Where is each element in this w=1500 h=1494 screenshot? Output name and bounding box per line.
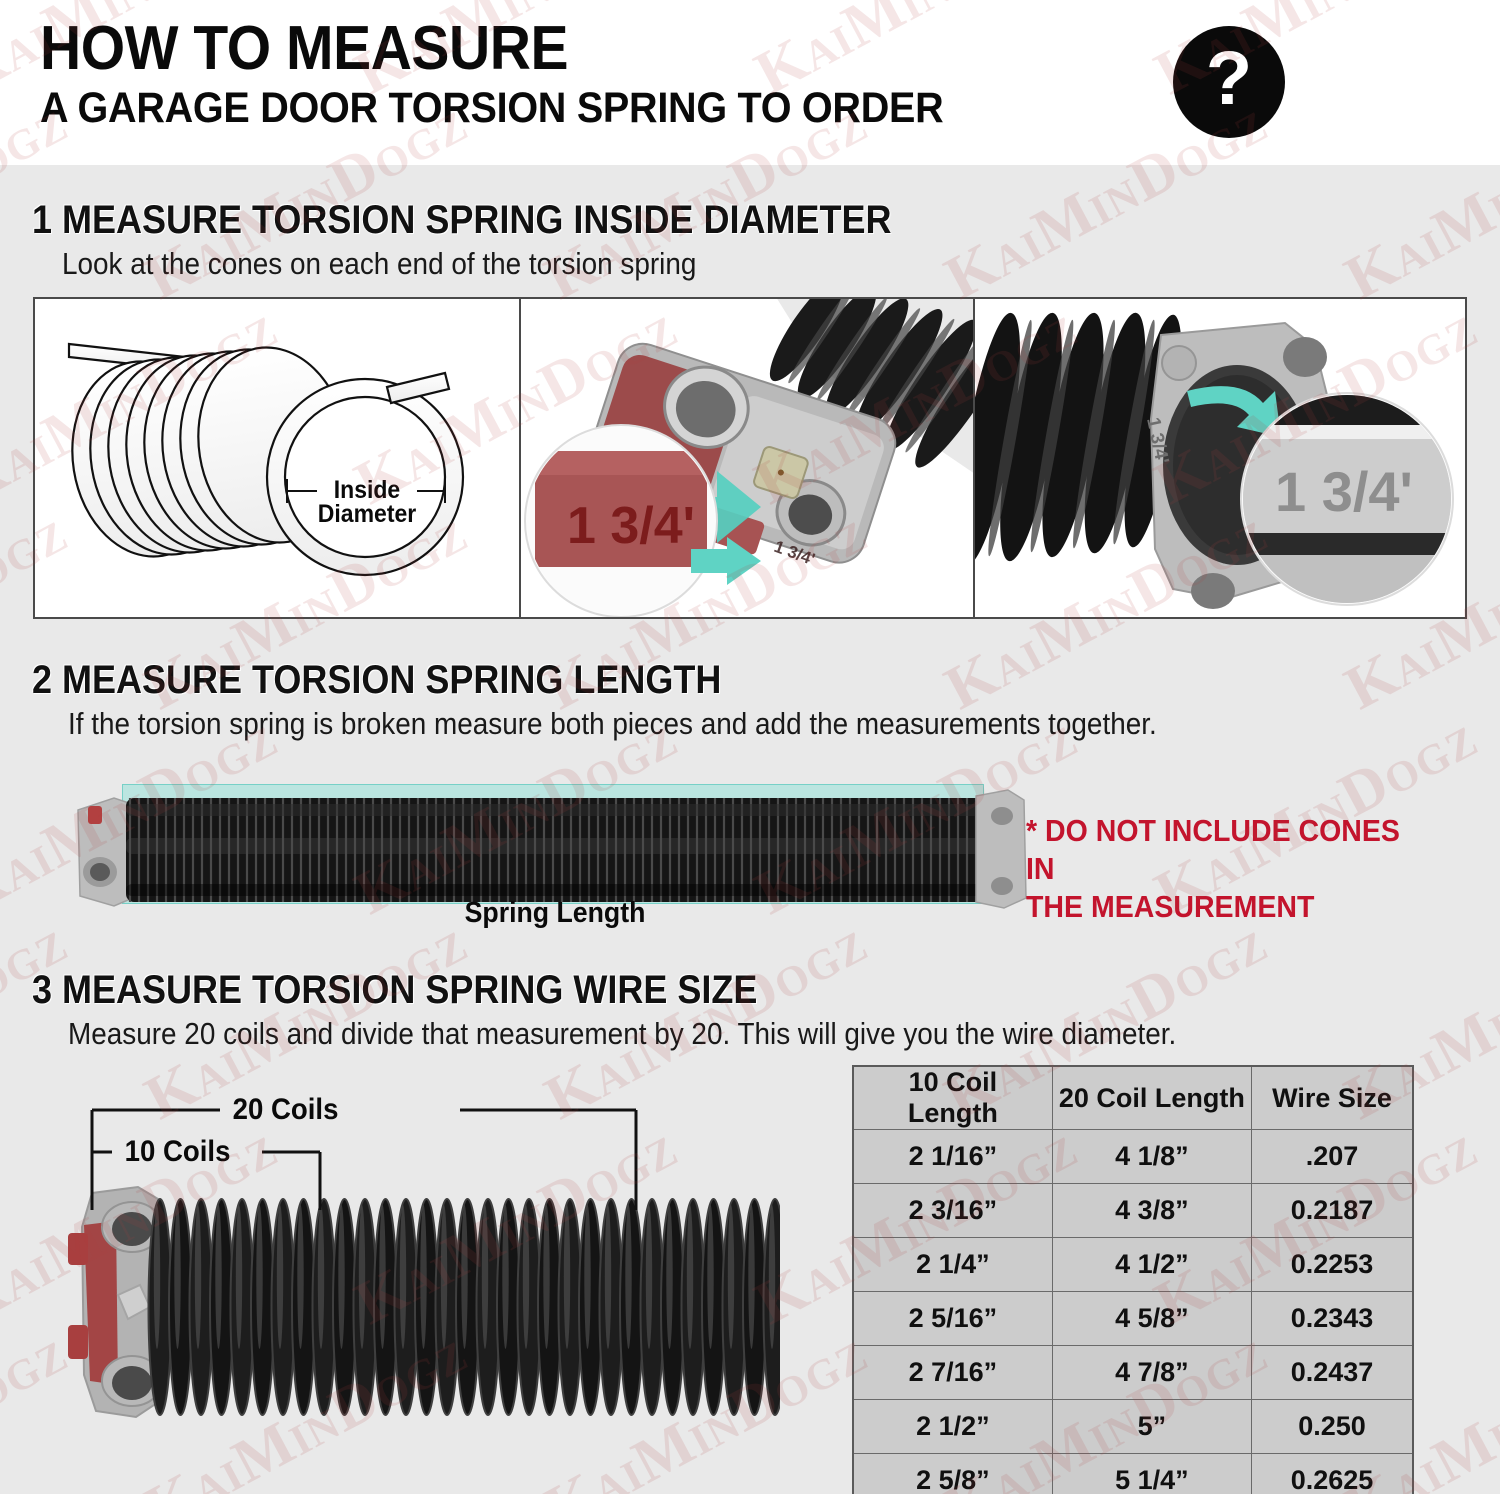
question-mark-icon: ? xyxy=(1206,41,1252,117)
table-cell: 4 7/8” xyxy=(1052,1346,1251,1400)
spring-coil-highlight xyxy=(154,1205,160,1349)
table-cell: 4 1/8” xyxy=(1052,1130,1251,1184)
table-cell: 2 3/16” xyxy=(853,1184,1052,1238)
table-cell: 2 1/2” xyxy=(853,1400,1052,1454)
spring-coil-highlight xyxy=(605,1205,611,1349)
table-cell: 0.2625 xyxy=(1252,1454,1414,1494)
warning-line-1: * DO NOT INCLUDE CONES IN xyxy=(1026,812,1412,888)
spring-coil-highlight xyxy=(420,1205,426,1349)
spring-coil-highlight xyxy=(195,1205,201,1349)
table-row: 2 3/16”4 3/8”0.2187 xyxy=(853,1184,1413,1238)
svg-text:1 3/4': 1 3/4' xyxy=(567,497,695,555)
spring-coil-highlight xyxy=(625,1205,631,1349)
spring-coil-highlight xyxy=(400,1205,406,1349)
table-cell: 0.2253 xyxy=(1252,1238,1414,1292)
spring-coil-highlight xyxy=(236,1205,242,1349)
section-3-subheading: Measure 20 coils and divide that measure… xyxy=(68,1016,1176,1052)
spring-coil-highlight xyxy=(215,1205,221,1349)
cone-exclusion-warning: * DO NOT INCLUDE CONES IN THE MEASUREMEN… xyxy=(1026,812,1412,926)
spring-coil-highlight xyxy=(174,1205,180,1349)
table-cell: 4 3/8” xyxy=(1052,1184,1251,1238)
table-cell: 5” xyxy=(1052,1400,1251,1454)
inside-diameter-diagram-panel: Inside Diameter xyxy=(35,299,521,617)
section-2-heading: 2 MEASURE TORSION SPRING LENGTH xyxy=(32,658,721,702)
inside-diameter-label-line2: Diameter xyxy=(299,501,435,527)
table-cell: 0.2343 xyxy=(1252,1292,1414,1346)
table-cell: 2 1/4” xyxy=(853,1238,1052,1292)
wire-size-table: 10 Coil Length 20 Coil Length Wire Size … xyxy=(852,1065,1414,1494)
table-row: 2 7/16”4 7/8”0.2437 xyxy=(853,1346,1413,1400)
table-cell: 2 1/16” xyxy=(853,1130,1052,1184)
red-cone-photo-panel: 1 3/4' 1 3/4' xyxy=(521,299,975,617)
label-20-coils: 20 Coils xyxy=(233,1093,339,1127)
spring-coil-highlight xyxy=(707,1205,713,1349)
section-1-subheading: Look at the cones on each end of the tor… xyxy=(62,246,696,282)
spring-coil-highlight xyxy=(728,1205,734,1349)
spring-coil-highlight xyxy=(318,1205,324,1349)
warning-line-2: THE MEASUREMENT xyxy=(1026,888,1412,926)
section-1-panel-row: Inside Diameter xyxy=(33,297,1467,619)
gray-cone-photo-panel: 1 3/4' 1 3/4' xyxy=(975,299,1465,617)
spring-coil-highlight xyxy=(523,1205,529,1349)
spring-coil-highlight xyxy=(359,1205,365,1349)
page-subtitle: A GARAGE DOOR TORSION SPRING TO ORDER xyxy=(40,84,1346,132)
spring-coil-highlight xyxy=(543,1205,549,1349)
table-cell: 4 1/2” xyxy=(1052,1238,1251,1292)
spring-coil-highlight xyxy=(687,1205,693,1349)
spring-coil-highlight xyxy=(297,1205,303,1349)
wire-size-spring-photo xyxy=(40,1185,780,1445)
table-body: 2 1/16”4 1/8”.2072 3/16”4 3/8”0.21872 1/… xyxy=(853,1130,1413,1494)
table-row: 2 5/8”5 1/4”0.2625 xyxy=(853,1454,1413,1494)
spring-coil-highlight xyxy=(584,1205,590,1349)
red-cone-photo: 1 3/4' 1 3/4' xyxy=(521,299,975,617)
torsion-spring-closeup xyxy=(40,1185,780,1435)
column-header-10-coil: 10 Coil Length xyxy=(853,1066,1052,1130)
column-header-20-coil: 20 Coil Length xyxy=(1052,1066,1251,1130)
spring-coil-highlight xyxy=(256,1205,262,1349)
spring-coil-highlight xyxy=(482,1205,488,1349)
table-cell: 4 5/8” xyxy=(1052,1292,1251,1346)
full-torsion-spring-photo xyxy=(60,776,1050,916)
svg-text:1 3/4': 1 3/4' xyxy=(1275,460,1413,523)
spring-coil-highlight xyxy=(748,1205,754,1349)
spring-coil-line-drawing xyxy=(35,299,521,617)
table-cell: 2 7/16” xyxy=(853,1346,1052,1400)
table-header-row: 10 Coil Length 20 Coil Length Wire Size xyxy=(853,1066,1413,1130)
table-cell: 2 5/16” xyxy=(853,1292,1052,1346)
spring-length-label: Spring Length xyxy=(100,897,1011,930)
spring-coil-highlight xyxy=(646,1205,652,1349)
table-cell: 0.2187 xyxy=(1252,1184,1414,1238)
spring-length-illustration: Spring Length xyxy=(60,762,1050,932)
column-header-wire-size: Wire Size xyxy=(1252,1066,1414,1130)
section-2-subheading: If the torsion spring is broken measure … xyxy=(68,706,1157,742)
table-cell: 0.250 xyxy=(1252,1400,1414,1454)
table-cell: .207 xyxy=(1252,1130,1414,1184)
spring-coil-highlight xyxy=(277,1205,283,1349)
table-row: 2 1/4”4 1/2”0.2253 xyxy=(853,1238,1413,1292)
coil-count-callouts: 20 Coils 10 Coils xyxy=(40,1090,840,1220)
spring-coil-highlight xyxy=(666,1205,672,1349)
help-badge[interactable]: ? xyxy=(1173,26,1285,138)
table-row: 2 1/16”4 1/8”.207 xyxy=(853,1130,1413,1184)
table-row: 2 5/16”4 5/8”0.2343 xyxy=(853,1292,1413,1346)
table-cell: 0.2437 xyxy=(1252,1346,1414,1400)
table-cell: 2 5/8” xyxy=(853,1454,1052,1494)
spring-coil-highlight xyxy=(564,1205,570,1349)
spring-coil-highlight xyxy=(502,1205,508,1349)
spring-coil-highlight xyxy=(461,1205,467,1349)
table-row: 2 1/2”5”0.250 xyxy=(853,1400,1413,1454)
section-1-heading: 1 MEASURE TORSION SPRING INSIDE DIAMETER xyxy=(32,198,891,242)
page-title: HOW TO MEASURE xyxy=(40,16,1346,82)
table-cell: 5 1/4” xyxy=(1052,1454,1251,1494)
label-10-coils: 10 Coils xyxy=(125,1135,231,1169)
spring-coil-highlight xyxy=(441,1205,447,1349)
spring-coil-highlight xyxy=(769,1205,775,1349)
spring-coil-highlight xyxy=(379,1205,385,1349)
gray-cone-photo: 1 3/4' 1 3/4' xyxy=(975,299,1465,617)
section-3-heading: 3 MEASURE TORSION SPRING WIRE SIZE xyxy=(32,968,757,1012)
spring-coil-highlight xyxy=(338,1205,344,1349)
